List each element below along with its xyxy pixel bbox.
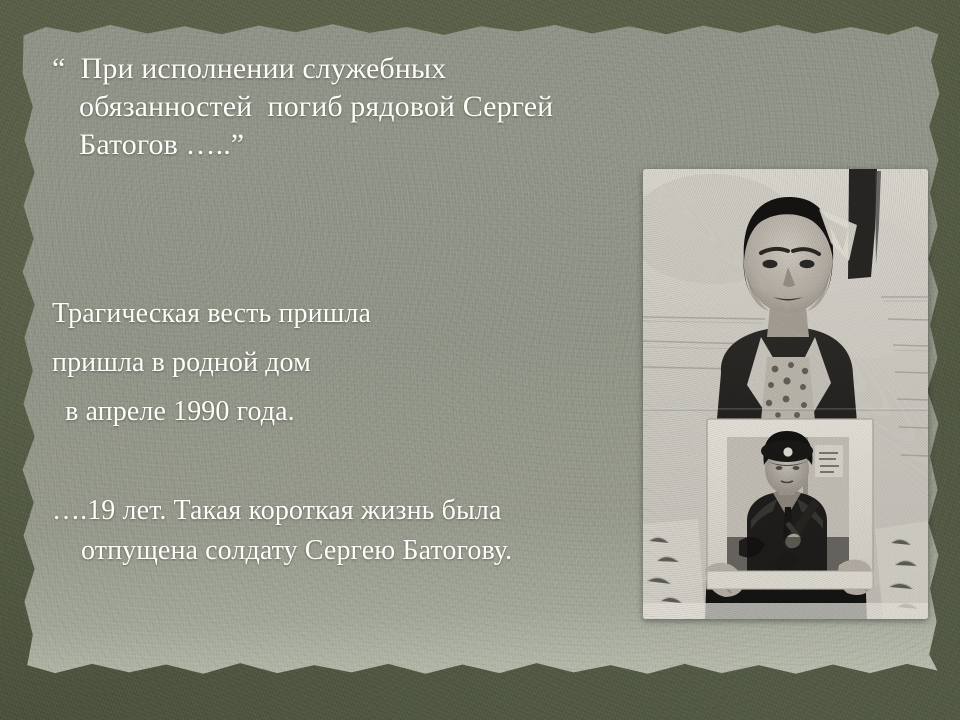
quote-title-block: “ При исполнении служебных обязанностей … <box>52 50 553 164</box>
quote-line-3: Батогов …..” <box>52 126 553 164</box>
verse-line-3: в апреле 1990 года. <box>52 387 371 436</box>
closing-block: ….19 лет. Такая короткая жизнь была отпу… <box>52 491 512 571</box>
presentation-slide: “ При исполнении служебных обязанностей … <box>0 0 960 720</box>
verse-block: Трагическая весть пришла пришла в родной… <box>52 289 371 436</box>
quote-line-1: “ При исполнении служебных <box>52 50 553 88</box>
newspaper-clipping-photo <box>643 169 928 619</box>
verse-line-2: пришла в родной дом <box>52 338 371 387</box>
photo-artwork <box>643 169 928 619</box>
verse-line-1: Трагическая весть пришла <box>52 289 371 338</box>
closing-line-1: ….19 лет. Такая короткая жизнь была <box>52 491 512 531</box>
quote-line-2: обязанностей погиб рядовой Сергей <box>52 88 553 126</box>
closing-line-2: отпущена солдату Сергею Батогову. <box>52 531 512 571</box>
